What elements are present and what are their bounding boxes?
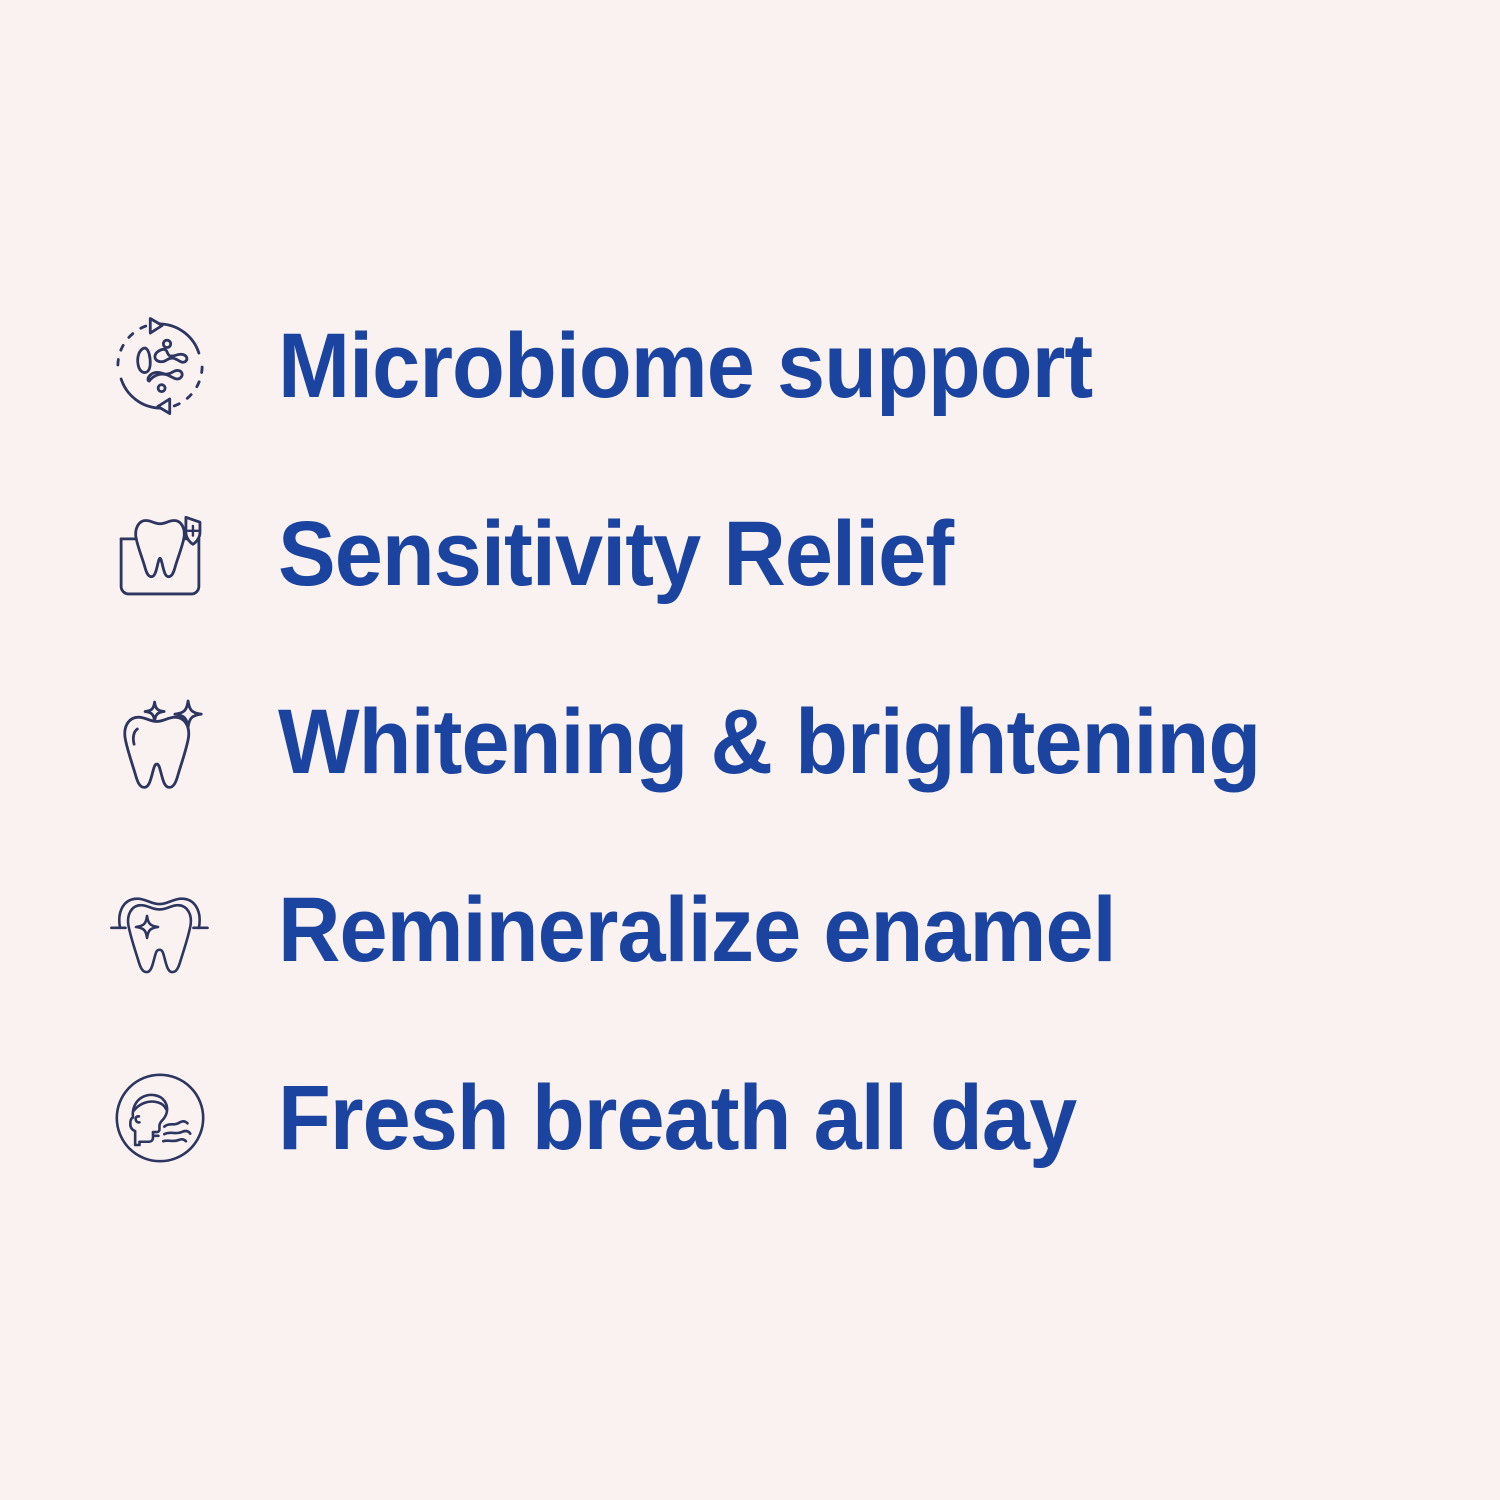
benefit-label: Microbiome support xyxy=(278,320,1347,412)
benefit-label: Whitening & brightening xyxy=(278,696,1347,788)
benefit-item-whitening-brightening: Whitening & brightening xyxy=(95,648,1415,836)
benefit-item-microbiome-support: Microbiome support xyxy=(95,272,1415,460)
benefit-label: Fresh breath all day xyxy=(278,1072,1347,1164)
tooth-sparkle-icon xyxy=(95,677,225,807)
benefits-list: Microbiome support xyxy=(95,272,1415,1212)
benefits-panel: Microbiome support xyxy=(0,0,1500,1500)
microbiome-renewal-icon xyxy=(95,301,225,431)
benefit-label: Sensitivity Relief xyxy=(278,508,1347,600)
fresh-breath-head-icon xyxy=(95,1053,225,1183)
benefit-label: Remineralize enamel xyxy=(278,884,1347,976)
benefit-item-remineralize-enamel: Remineralize enamel xyxy=(95,836,1415,1024)
benefit-item-sensitivity-relief: Sensitivity Relief xyxy=(95,460,1415,648)
tooth-enamel-shield-icon xyxy=(95,865,225,995)
benefit-item-fresh-breath: Fresh breath all day xyxy=(95,1024,1415,1212)
tooth-gum-shield-icon xyxy=(95,489,225,619)
